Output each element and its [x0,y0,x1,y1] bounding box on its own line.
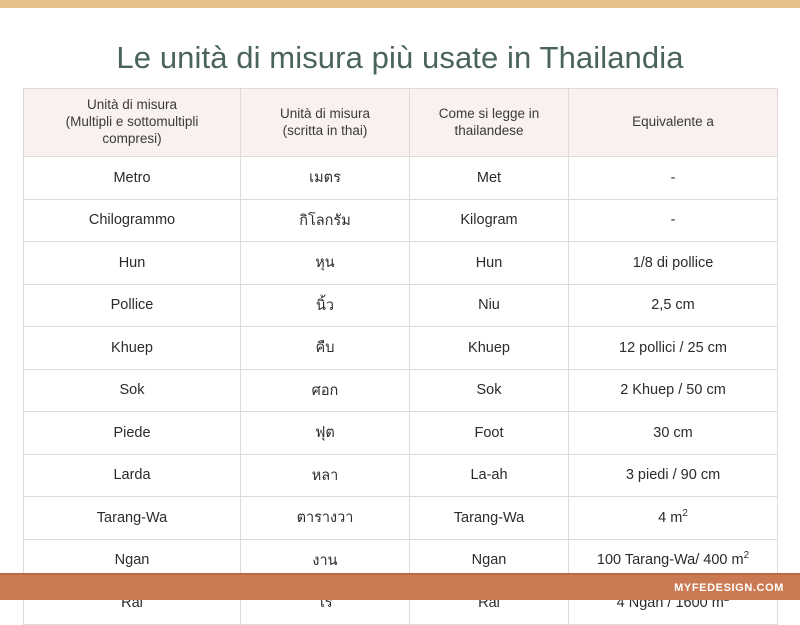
footer-brand-label: MYFEDESIGN.COM [674,582,784,594]
cell-equivalent-text: 2 Khuep / 50 cm [620,382,726,398]
cell-thai: เมตร [241,157,410,200]
cell-thai: นิ้ว [241,284,410,327]
cell-reading: Met [410,157,569,200]
table-row: LardaหลาLa-ah3 piedi / 90 cm [24,454,778,497]
column-header-equivalent: Equivalente a [569,89,778,157]
cell-reading: Foot [410,412,569,455]
cell-equivalent-text: 4 m [658,510,682,526]
cell-unit: Piede [24,412,241,455]
column-header-unit-line1: Unità di misura [30,97,234,114]
cell-equivalent-text: 100 Tarang-Wa/ 400 m [597,552,744,568]
column-header-unit-line2: (Multipli e sottomultipli [30,114,234,131]
cell-unit: Larda [24,454,241,497]
cell-equivalent: - [569,199,778,242]
cell-unit: Pollice [24,284,241,327]
cell-equivalent-text: 2,5 cm [651,297,695,313]
table-row: HunหุนHun1/8 di pollice [24,242,778,285]
column-header-thai-line2: (scritta in thai) [247,123,403,140]
cell-equivalent-text: 1/8 di pollice [633,255,714,271]
table-row: MetroเมตรMet- [24,157,778,200]
column-header-thai-line1: Unità di misura [247,106,403,123]
table-row: SokศอกSok2 Khuep / 50 cm [24,369,778,412]
column-header-unit: Unità di misura (Multipli e sottomultipl… [24,89,241,157]
cell-equivalent: 30 cm [569,412,778,455]
column-header-unit-line3: compresi) [30,131,234,148]
top-accent-bar [0,0,800,8]
cell-thai: หุน [241,242,410,285]
column-header-reading-line2: thailandese [416,123,562,140]
cell-reading: Sok [410,369,569,412]
cell-equivalent: 3 piedi / 90 cm [569,454,778,497]
cell-reading: Hun [410,242,569,285]
units-table: Unità di misura (Multipli e sottomultipl… [23,88,778,625]
cell-reading: Niu [410,284,569,327]
cell-reading: Tarang-Wa [410,497,569,540]
cell-equivalent: - [569,157,778,200]
column-header-thai: Unità di misura (scritta in thai) [241,89,410,157]
table-header-row: Unità di misura (Multipli e sottomultipl… [24,89,778,157]
cell-equivalent-text: - [671,212,676,228]
cell-unit: Chilogrammo [24,199,241,242]
cell-unit: Tarang-Wa [24,497,241,540]
table-row: Tarang-WaตารางวาTarang-Wa4 m2 [24,497,778,540]
cell-reading: La-ah [410,454,569,497]
page-title: Le unità di misura più usate in Thailand… [0,40,800,76]
cell-equivalent: 2,5 cm [569,284,778,327]
table-row: Polliceนิ้วNiu2,5 cm [24,284,778,327]
cell-reading: Kilogram [410,199,569,242]
cell-unit: Sok [24,369,241,412]
cell-thai: กิโลกรัม [241,199,410,242]
column-header-equivalent-line1: Equivalente a [575,114,771,131]
cell-reading: Khuep [410,327,569,370]
cell-equivalent-text: 30 cm [653,425,693,441]
cell-unit: Khuep [24,327,241,370]
cell-thai: ตารางวา [241,497,410,540]
table-row: PiedeฟุตFoot30 cm [24,412,778,455]
cell-equivalent: 12 pollici / 25 cm [569,327,778,370]
cell-unit: Hun [24,242,241,285]
table-body: MetroเมตรMet-ChilogrammoกิโลกรัมKilogram… [24,157,778,625]
cell-equivalent-text: 12 pollici / 25 cm [619,340,727,356]
column-header-reading-line1: Come si legge in [416,106,562,123]
cell-equivalent: 2 Khuep / 50 cm [569,369,778,412]
cell-thai: คืบ [241,327,410,370]
cell-equivalent: 4 m2 [569,497,778,540]
cell-equivalent-superscript: 2 [744,550,749,561]
cell-unit: Metro [24,157,241,200]
cell-thai: ศอก [241,369,410,412]
table-row: KhuepคืบKhuep12 pollici / 25 cm [24,327,778,370]
cell-equivalent-text: 3 piedi / 90 cm [626,467,720,483]
table-row: ChilogrammoกิโลกรัมKilogram- [24,199,778,242]
cell-equivalent-text: - [671,170,676,186]
column-header-reading: Come si legge in thailandese [410,89,569,157]
cell-equivalent-superscript: 2 [682,508,687,519]
footer-bar: MYFEDESIGN.COM [0,573,800,600]
cell-equivalent: 1/8 di pollice [569,242,778,285]
cell-thai: ฟุต [241,412,410,455]
cell-thai: หลา [241,454,410,497]
